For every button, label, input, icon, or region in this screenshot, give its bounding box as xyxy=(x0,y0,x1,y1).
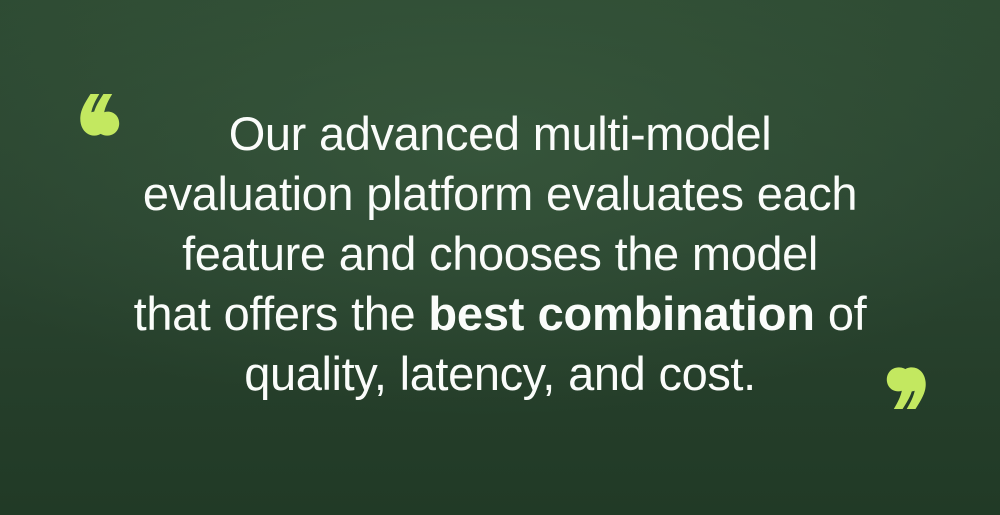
quote-line-4-post: of xyxy=(815,287,867,340)
quote-text: Our advanced multi-model evaluation plat… xyxy=(70,104,930,404)
quote-card: Our advanced multi-model evaluation plat… xyxy=(0,0,1000,515)
quote-line-3: feature and chooses the model xyxy=(70,224,930,284)
quote-line-1: Our advanced multi-model xyxy=(70,104,930,164)
quote-line-4: that offers the best combination of xyxy=(70,284,930,344)
quote-line-2: evaluation platform evaluates each xyxy=(70,164,930,224)
quote-emphasis: best combination xyxy=(428,287,814,340)
quote-line-4-pre: that offers the xyxy=(134,287,429,340)
quote-line-5: quality, latency, and cost. xyxy=(70,344,930,404)
